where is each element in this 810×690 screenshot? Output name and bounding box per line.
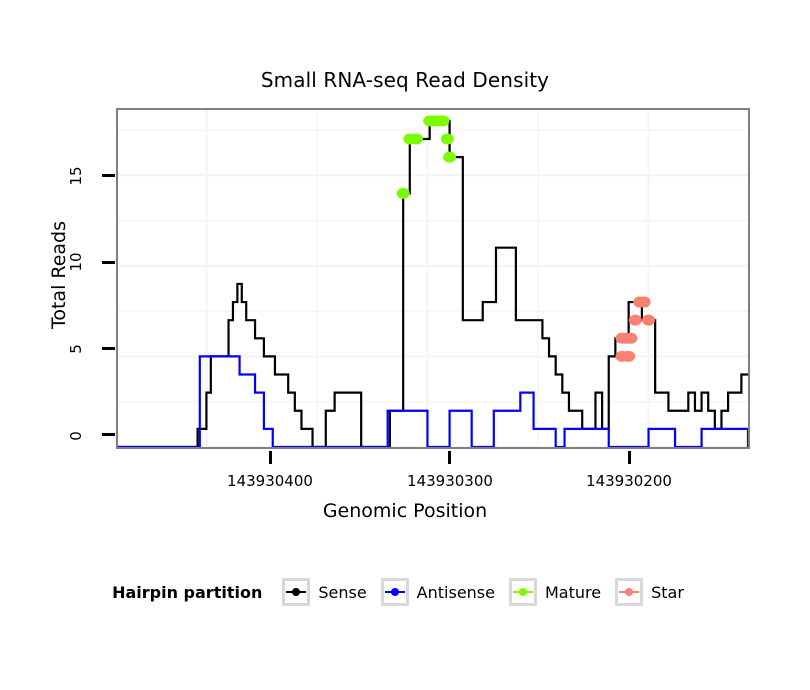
y-tick-label-15: 15 <box>67 156 85 196</box>
point-overlays <box>397 115 655 362</box>
x-tick-mark-1 <box>269 451 272 464</box>
point-star <box>642 315 655 326</box>
series-lines <box>118 121 748 447</box>
plot-area <box>118 110 748 447</box>
legend-entry-sense[interactable]: Sense <box>282 578 366 606</box>
legend-key-sense-icon <box>282 578 310 606</box>
point-star <box>638 297 651 308</box>
point-mature <box>441 133 454 144</box>
plot-panel <box>116 108 750 449</box>
x-tick-label-2: 143930300 <box>390 472 510 490</box>
legend-label-antisense: Antisense <box>417 583 495 602</box>
point-star <box>624 333 637 344</box>
y-tick-label-5: 5 <box>67 329 85 369</box>
y-tick-label-10: 10 <box>67 242 85 282</box>
legend-key-mature-icon <box>509 578 537 606</box>
gridlines <box>118 110 748 447</box>
y-tick-mark-0 <box>102 433 115 436</box>
legend-label-sense: Sense <box>318 583 366 602</box>
y-tick-label-0: 0 <box>67 416 85 456</box>
point-star <box>629 315 642 326</box>
legend-entry-list: SenseAntisenseMatureStar <box>282 578 698 606</box>
point-star <box>622 351 635 362</box>
series-line-sense <box>118 121 748 447</box>
x-tick-mark-3 <box>628 451 631 464</box>
legend-key-antisense-icon <box>381 578 409 606</box>
legend-title: Hairpin partition <box>112 583 262 602</box>
point-mature <box>443 152 456 163</box>
point-mature <box>397 188 410 199</box>
x-tick-label-3: 143930200 <box>569 472 689 490</box>
chart-figure: Small RNA-seq Read Density Total Reads 1… <box>0 0 810 690</box>
legend-key-star-icon <box>615 578 643 606</box>
point-mature <box>436 115 449 126</box>
legend-entry-antisense[interactable]: Antisense <box>381 578 495 606</box>
y-tick-mark-15 <box>102 174 115 177</box>
x-tick-mark-2 <box>448 451 451 464</box>
point-mature <box>410 133 423 144</box>
legend: Hairpin partition SenseAntisenseMatureSt… <box>0 578 810 606</box>
x-tick-label-1: 143930400 <box>210 472 330 490</box>
chart-title: Small RNA-seq Read Density <box>0 68 810 92</box>
y-tick-mark-10 <box>102 261 115 264</box>
y-tick-mark-5 <box>102 347 115 350</box>
legend-entry-mature[interactable]: Mature <box>509 578 601 606</box>
legend-label-mature: Mature <box>545 583 601 602</box>
legend-label-star: Star <box>651 583 684 602</box>
legend-entry-star[interactable]: Star <box>615 578 684 606</box>
x-axis-label: Genomic Position <box>0 500 810 522</box>
